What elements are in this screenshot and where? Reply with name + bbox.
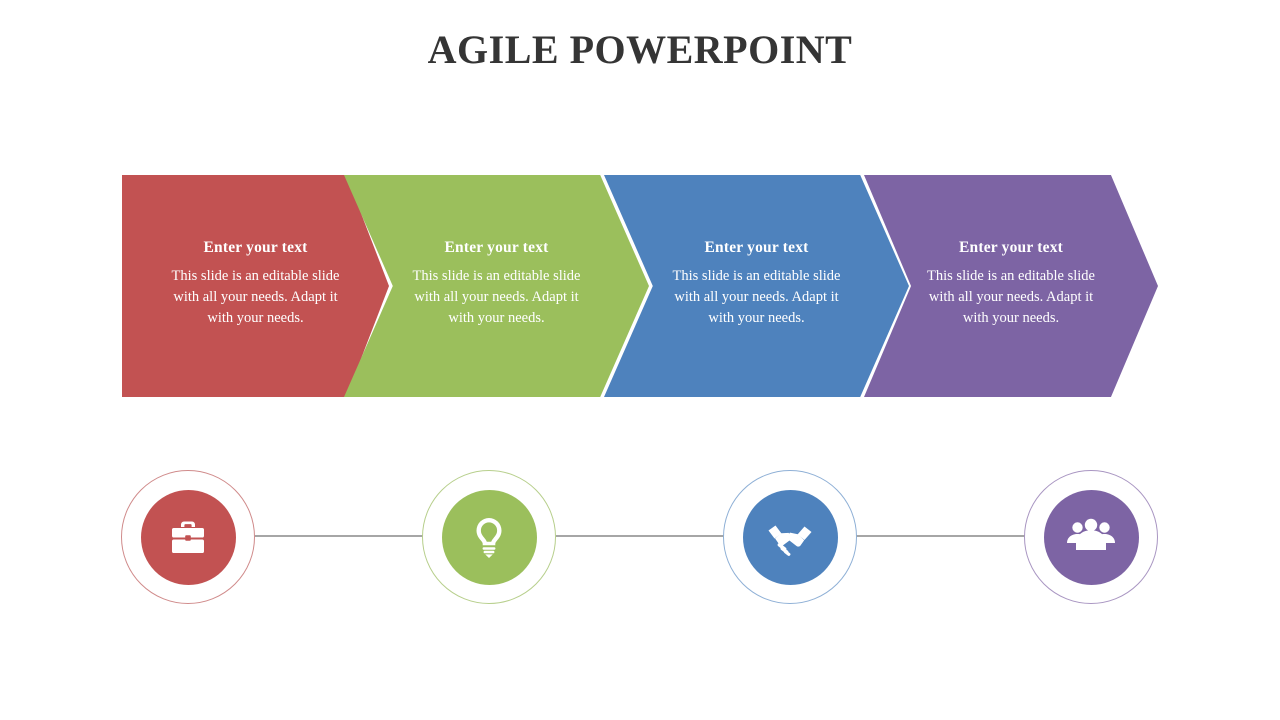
icon-node-3[interactable]	[723, 470, 857, 604]
process-step-3-content: Enter your text This slide is an editabl…	[662, 239, 852, 330]
process-step-3[interactable]: Enter your text This slide is an editabl…	[604, 175, 909, 397]
briefcase-icon	[162, 511, 214, 563]
process-step-1-heading: Enter your text	[161, 239, 351, 257]
page-title: AGILE POWERPOINT	[0, 26, 1280, 74]
process-step-4-heading: Enter your text	[916, 239, 1106, 257]
process-step-2-body: This slide is an editable slide with all…	[402, 266, 592, 330]
process-step-1-content: Enter your text This slide is an editabl…	[161, 239, 351, 330]
process-step-1-body: This slide is an editable slide with all…	[161, 266, 351, 330]
process-arrow-band: Enter your text This slide is an editabl…	[122, 175, 1158, 397]
process-step-4-body: This slide is an editable slide with all…	[916, 266, 1106, 330]
connector-line-2	[556, 535, 726, 537]
connector-line-3	[856, 535, 1026, 537]
connector-line-1	[255, 535, 425, 537]
process-step-2-content: Enter your text This slide is an editabl…	[402, 239, 592, 330]
process-step-2-heading: Enter your text	[402, 239, 592, 257]
icon-disc-4	[1044, 490, 1139, 585]
icon-disc-3	[743, 490, 838, 585]
icon-node-1[interactable]	[121, 470, 255, 604]
icon-disc-1	[141, 490, 236, 585]
process-step-1[interactable]: Enter your text This slide is an editabl…	[122, 175, 389, 397]
icon-node-2[interactable]	[422, 470, 556, 604]
handshake-icon	[763, 510, 817, 564]
process-step-4-content: Enter your text This slide is an editabl…	[916, 239, 1106, 330]
icon-node-4[interactable]	[1024, 470, 1158, 604]
icon-disc-2	[442, 490, 537, 585]
people-group-icon	[1064, 510, 1118, 564]
process-step-3-body: This slide is an editable slide with all…	[662, 266, 852, 330]
lightbulb-icon	[463, 511, 515, 563]
process-step-2[interactable]: Enter your text This slide is an editabl…	[344, 175, 649, 397]
process-step-3-heading: Enter your text	[662, 239, 852, 257]
